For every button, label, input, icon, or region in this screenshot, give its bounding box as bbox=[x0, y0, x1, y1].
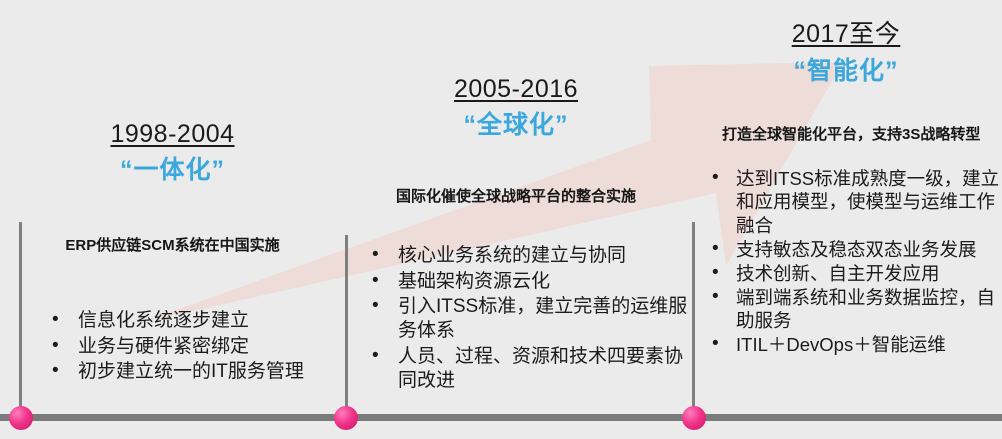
phase-2-subtitle: 国际化催使全球战略平台的整合实施 bbox=[340, 187, 692, 207]
list-item: 达到ITSS标准成熟度一级，建立和应用模型，使模型与运维工作融合 bbox=[708, 167, 1002, 236]
marker-phase-2[interactable] bbox=[334, 406, 358, 430]
phase-1-bullet-list: 信息化系统逐步建立 业务与硬件紧密绑定 初步建立统一的IT服务管理 bbox=[0, 309, 345, 384]
phase-1-column: 1998-2004 “一体化” ERP供应链SCM系统在中国实施 信息化系统逐步… bbox=[0, 120, 345, 385]
list-item: ITIL＋DevOps＋智能运维 bbox=[708, 333, 1002, 356]
list-item: 支持敏态及稳态双态业务发展 bbox=[708, 238, 1002, 261]
list-item: 端到端系统和业务数据监控，自助服务 bbox=[708, 286, 1002, 332]
list-item: 引入ITSS标准，建立完善的运维服务体系 bbox=[368, 295, 692, 344]
marker-phase-3[interactable] bbox=[682, 406, 706, 430]
phase-1-years: 1998-2004 bbox=[0, 120, 345, 149]
phase-3-column: 2017至今 “智能化” 打造全球智能化平台，支持3S战略转型 达到ITSS标准… bbox=[690, 14, 1002, 357]
list-item: 核心业务系统的建立与协同 bbox=[368, 244, 692, 268]
list-item: 初步建立统一的IT服务管理 bbox=[48, 360, 345, 384]
phase-2-bullet-list: 核心业务系统的建立与协同 基础架构资源云化 引入ITSS标准，建立完善的运维服务… bbox=[340, 244, 692, 393]
phase-3-tick-line bbox=[692, 222, 695, 418]
phase-2-column: 2005-2016 “全球化” 国际化催使全球战略平台的整合实施 核心业务系统的… bbox=[340, 75, 692, 394]
phase-2-years: 2005-2016 bbox=[340, 75, 692, 104]
list-item: 业务与硬件紧密绑定 bbox=[48, 335, 345, 359]
slide-canvas: 1998-2004 “一体化” ERP供应链SCM系统在中国实施 信息化系统逐步… bbox=[0, 0, 1002, 439]
phase-3-name: “智能化” bbox=[690, 51, 1002, 87]
phase-3-bullet-list: 达到ITSS标准成熟度一级，建立和应用模型，使模型与运维工作融合 支持敏态及稳态… bbox=[690, 167, 1002, 356]
list-item: 技术创新、自主开发应用 bbox=[708, 262, 1002, 285]
list-item: 信息化系统逐步建立 bbox=[48, 309, 345, 333]
phase-2-name: “全球化” bbox=[340, 105, 692, 141]
phase-3-years: 2017至今 bbox=[690, 14, 1002, 50]
phase-1-tick-line bbox=[19, 222, 22, 418]
list-item: 基础架构资源云化 bbox=[368, 270, 692, 294]
phase-3-subtitle: 打造全球智能化平台，支持3S战略转型 bbox=[690, 125, 1002, 145]
phase-1-subtitle: ERP供应链SCM系统在中国实施 bbox=[0, 236, 345, 256]
marker-phase-1[interactable] bbox=[9, 406, 33, 430]
phase-2-tick-line bbox=[345, 235, 348, 418]
phase-1-name: “一体化” bbox=[0, 150, 345, 186]
list-item: 人员、过程、资源和技术四要素协同改进 bbox=[368, 345, 692, 394]
timeline-axis bbox=[0, 414, 1002, 421]
